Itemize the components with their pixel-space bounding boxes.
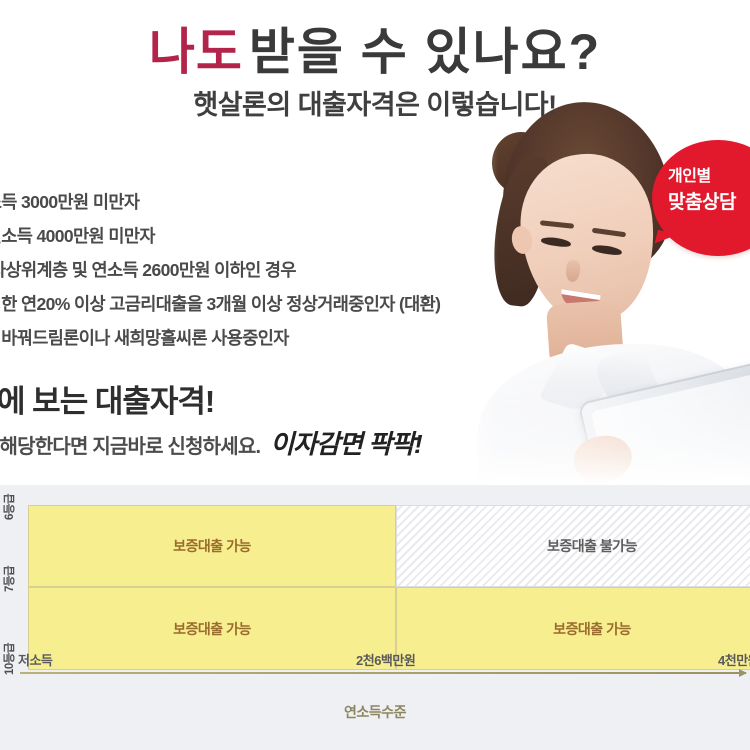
- cta-block: 한눈에 보는 대출자격! 자격에 해당한다면 지금바로 신청하세요.이자감면 팍…: [0, 382, 422, 461]
- promo-page: 나도받을 수 있나요? 햇살론의 대출자격은 이렇습니다!: [0, 0, 750, 750]
- speech-bubble-line1: 개인별: [668, 164, 750, 190]
- headline-accent: 나도: [149, 24, 243, 80]
- eligibility-bullet-list: 근로자는 연소득 3000만원 미만자 자영업자는 연소득 4000만원 미만자…: [0, 188, 544, 357]
- cta-stamp: 이자감면 팍팍!: [270, 429, 421, 459]
- y-axis-tick-label: 7등급: [1, 556, 17, 602]
- y-axis-tick-label: 6등급: [1, 484, 17, 530]
- headline-rest: 받을 수 있나요?: [249, 24, 601, 80]
- matrix-cell: 보증대출 가능: [28, 587, 396, 670]
- y-axis-tick-label: 10등급: [1, 636, 17, 682]
- speech-bubble-text: 개인별 맞춤상담: [668, 164, 750, 216]
- list-item: 저신용자로서 바꿔드림론이나 새희망홀씨론 사용중인자: [0, 324, 544, 354]
- page-subtitle: 햇살론의 대출자격은 이렇습니다!: [0, 88, 750, 122]
- list-item: 대부업을 제외한 연20% 이상 고금리대출을 3개월 이상 정상거래중인자 (…: [0, 290, 544, 320]
- x-axis-title: 연소득수준: [0, 702, 750, 722]
- hero-section: 나도받을 수 있나요? 햇살론의 대출자격은 이렇습니다!: [0, 0, 750, 485]
- matrix-cell: 보증대출 불가능: [396, 505, 750, 587]
- page-title: 나도받을 수 있나요?: [0, 22, 750, 82]
- chart-plot-area: 보증대출 가능 보증대출 불가능 보증대출 가능 보증대출 가능: [28, 505, 750, 670]
- x-axis-tick-label: 2천6백만원: [356, 650, 415, 669]
- x-axis-tick-label: 4천만원: [718, 650, 750, 669]
- list-item: 근로자는 연소득 3000만원 미만자: [0, 188, 544, 218]
- x-axis-tick-label: 저소득: [18, 650, 52, 669]
- matrix-cell: 보증대출 가능: [28, 505, 396, 587]
- cta-subtitle: 자격에 해당한다면 지금바로 신청하세요.이자감면 팍팍!: [0, 430, 422, 461]
- list-item: 자영업자는 연소득 4000만원 미만자: [0, 222, 544, 252]
- cta-title: 한눈에 보는 대출자격!: [0, 382, 422, 422]
- matrix-cell: 보증대출 가능: [396, 587, 750, 670]
- list-item: 기초수급자, 차상위계층 및 연소득 2600만원 이하인 경우: [0, 256, 544, 286]
- speech-bubble-line2: 맞춤상담: [668, 190, 750, 216]
- cta-subtitle-text: 자격에 해당한다면 지금바로 신청하세요.: [0, 436, 260, 458]
- x-axis-line: [20, 672, 746, 674]
